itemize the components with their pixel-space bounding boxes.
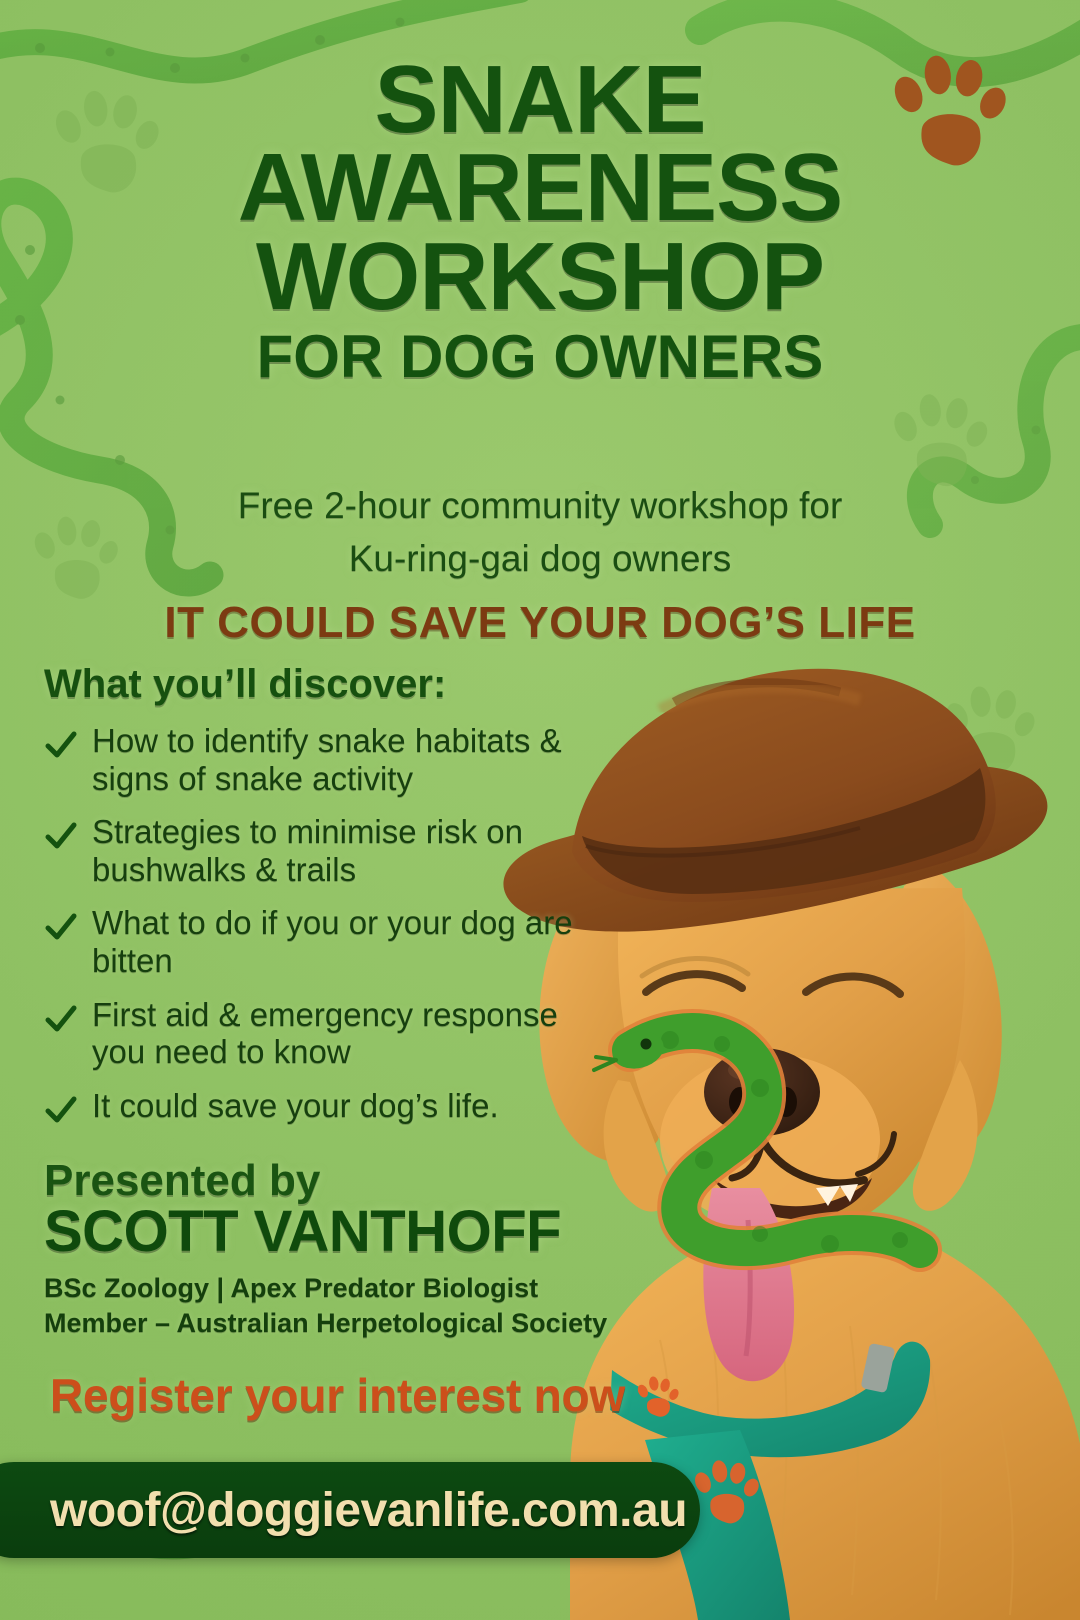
presenter-credential-2: Member – Australian Herpetological Socie… <box>44 1306 664 1341</box>
check-icon <box>44 1093 78 1127</box>
tagline: IT COULD SAVE YOUR DOG’S LIFE <box>0 598 1080 648</box>
intro-line-1: Free 2-hour community workshop for <box>0 480 1080 533</box>
title-line-3: WORKSHOP <box>0 233 1080 321</box>
presenter-section: Presented by SCOTT VANTHOFF BSc Zoology … <box>44 1158 664 1340</box>
list-item-label: Strategies to minimise risk on bushwalks… <box>92 813 604 888</box>
intro-line-2: Ku-ring-gai dog owners <box>0 533 1080 586</box>
check-icon <box>44 728 78 762</box>
check-icon <box>44 1002 78 1036</box>
title-line-2: AWARENESS <box>0 144 1080 232</box>
email-address: woof@doggievanlife.com.au <box>50 1483 687 1538</box>
paw-print-icon <box>637 1376 679 1418</box>
poster-content: SNAKE AWARENESS WORKSHOP FOR DOG OWNERS … <box>0 0 1080 1620</box>
register-cta[interactable]: Register your interest now <box>50 1368 679 1422</box>
title-line-1: SNAKE <box>0 56 1080 144</box>
discover-list: How to identify snake habitats & signs o… <box>44 722 604 1127</box>
check-icon <box>44 819 78 853</box>
email-pill[interactable]: woof@doggievanlife.com.au <box>0 1462 700 1558</box>
discover-section: What you’ll discover: How to identify sn… <box>44 664 604 1143</box>
list-item: How to identify snake habitats & signs o… <box>44 722 604 797</box>
list-item: First aid & emergency response you need … <box>44 996 604 1071</box>
snake-awareness-workshop-poster: SNAKE AWARENESS WORKSHOP FOR DOG OWNERS … <box>0 0 1080 1620</box>
discover-heading: What you’ll discover: <box>44 664 604 704</box>
list-item: It could save your dog’s life. <box>44 1087 604 1127</box>
list-item-label: What to do if you or your dog are bitten <box>92 904 604 979</box>
list-item-label: It could save your dog’s life. <box>92 1087 499 1125</box>
list-item: What to do if you or your dog are bitten <box>44 904 604 979</box>
presenter-prefix: Presented by <box>44 1158 664 1204</box>
intro-text: Free 2-hour community workshop for Ku-ri… <box>0 480 1080 585</box>
presenter-credential-1: BSc Zoology | Apex Predator Biologist <box>44 1271 664 1306</box>
register-label: Register your interest now <box>50 1368 625 1422</box>
title-block: SNAKE AWARENESS WORKSHOP FOR DOG OWNERS <box>0 56 1080 384</box>
list-item: Strategies to minimise risk on bushwalks… <box>44 813 604 888</box>
list-item-label: First aid & emergency response you need … <box>92 996 604 1071</box>
title-subtitle: FOR DOG OWNERS <box>0 329 1080 384</box>
check-icon <box>44 910 78 944</box>
presenter-name: SCOTT VANTHOFF <box>44 1202 664 1263</box>
list-item-label: How to identify snake habitats & signs o… <box>92 722 604 797</box>
